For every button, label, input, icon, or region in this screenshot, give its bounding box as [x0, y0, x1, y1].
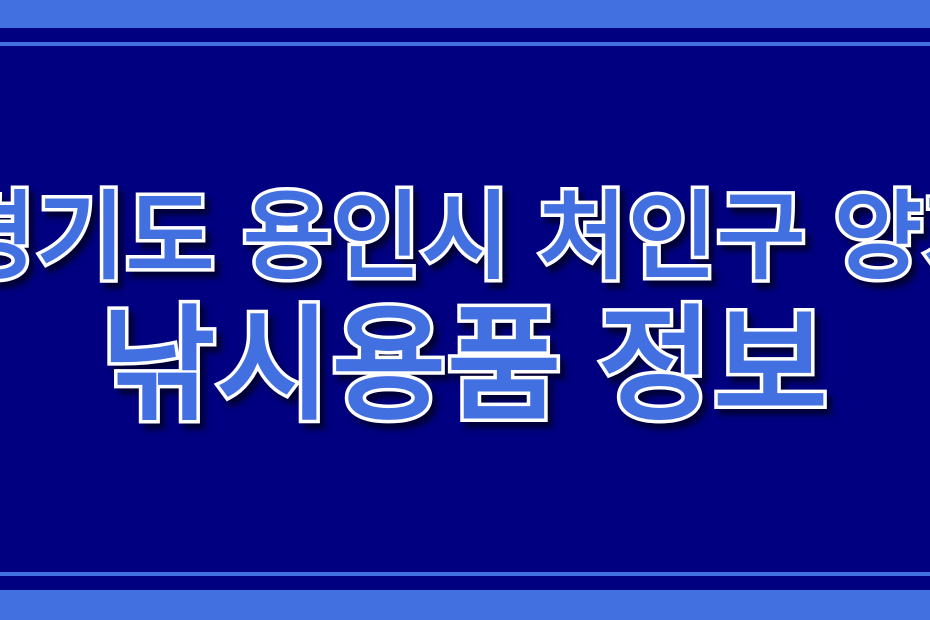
- banner-canvas: 경기도 용인시 처인구 양지면 낚시용품 정보: [0, 0, 930, 620]
- bottom-navy-bar: [0, 576, 930, 590]
- top-accent-bar: [0, 0, 930, 28]
- title-block: 경기도 용인시 처인구 양지면 낚시용품 정보: [0, 46, 930, 572]
- bottom-accent-bar: [0, 590, 930, 620]
- top-navy-bar: [0, 28, 930, 42]
- banner-title-line-1: 경기도 용인시 처인구 양지면: [0, 190, 930, 286]
- banner-title-line-2: 낚시용품 정보: [101, 304, 829, 428]
